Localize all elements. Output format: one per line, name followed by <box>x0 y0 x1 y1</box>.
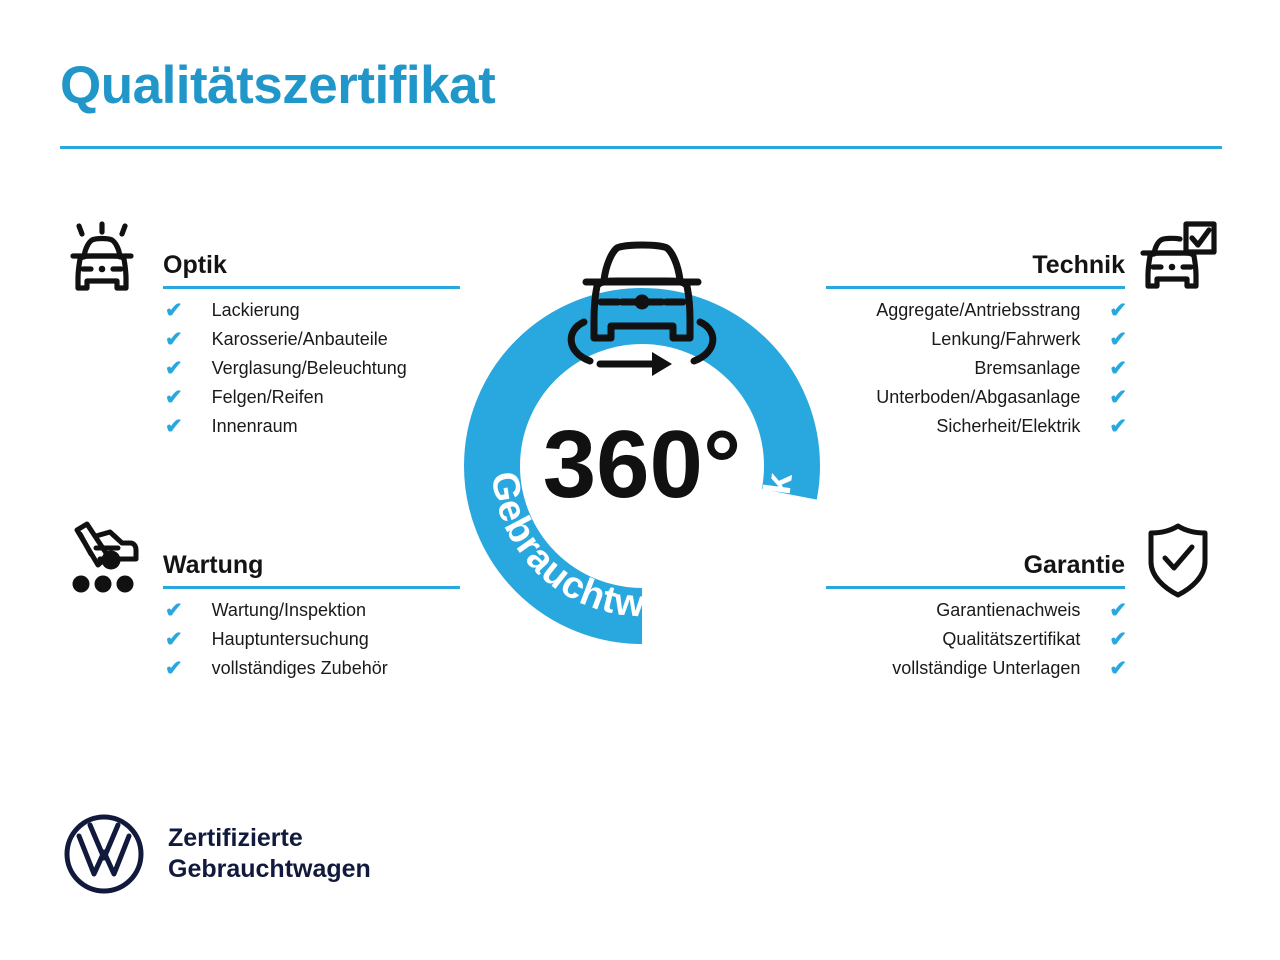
list-item-label: Wartung/Inspektion <box>212 600 366 621</box>
list-item: ✔Karosserie/Anbauteile <box>165 325 460 354</box>
header-divider <box>60 146 1222 149</box>
list-item: Bremsanlage✔ <box>820 354 1127 383</box>
badge-360-gebrauchtwagen-check: 360° Gebrauchtwagen-Check <box>451 216 833 656</box>
list-item: Qualitätszertifikat✔ <box>820 625 1127 654</box>
list-item: ✔Innenraum <box>165 412 460 441</box>
check-list-technik: Aggregate/Antriebsstrang✔ Lenkung/Fahrwe… <box>820 296 1127 441</box>
section-underline-optik <box>163 286 460 289</box>
section-header-technik: Technik <box>820 222 1220 296</box>
badge-center-label: 360° <box>543 411 742 518</box>
section-header-garantie: Garantie <box>820 522 1220 596</box>
check-icon: ✔ <box>165 600 183 621</box>
check-list-wartung: ✔Wartung/Inspektion ✔Hauptuntersuchung ✔… <box>165 596 460 683</box>
section-underline-garantie <box>826 586 1125 589</box>
list-item: ✔vollständiges Zubehör <box>165 654 460 683</box>
check-icon: ✔ <box>1109 329 1127 350</box>
section-title-optik: Optik <box>163 251 227 280</box>
list-item: Aggregate/Antriebsstrang✔ <box>820 296 1127 325</box>
list-item-label: Aggregate/Antriebsstrang <box>876 300 1080 321</box>
check-list-garantie: Garantienachweis✔ Qualitätszertifikat✔ v… <box>820 596 1127 683</box>
vw-logo-icon <box>62 812 146 896</box>
section-title-garantie: Garantie <box>1024 551 1125 580</box>
check-icon: ✔ <box>165 387 183 408</box>
list-item: ✔Felgen/Reifen <box>165 383 460 412</box>
section-wartung: Wartung ✔Wartung/Inspektion ✔Hauptunters… <box>60 522 460 683</box>
list-item-label: Felgen/Reifen <box>212 387 324 408</box>
car-polish-shine-icon <box>60 218 144 302</box>
check-icon: ✔ <box>165 358 183 379</box>
section-optik: Optik ✔Lackierung ✔Karosserie/Anbauteile… <box>60 222 460 441</box>
section-title-wartung: Wartung <box>163 551 263 580</box>
list-item: ✔Wartung/Inspektion <box>165 596 460 625</box>
list-item-label: Hauptuntersuchung <box>212 629 369 650</box>
section-underline-technik <box>826 286 1125 289</box>
service-pen-car-icon <box>60 518 144 602</box>
list-item-label: Qualitätszertifikat <box>942 629 1080 650</box>
list-item: Sicherheit/Elektrik✔ <box>820 412 1127 441</box>
page-title: Qualitätszertifikat <box>60 58 495 114</box>
list-item: Lenkung/Fahrwerk✔ <box>820 325 1127 354</box>
section-header-wartung: Wartung <box>60 522 460 596</box>
check-icon: ✔ <box>165 300 183 321</box>
list-item-label: Innenraum <box>212 416 298 437</box>
check-icon: ✔ <box>1109 629 1127 650</box>
footer-line-1: Zertifizierte <box>168 824 303 852</box>
check-list-optik: ✔Lackierung ✔Karosserie/Anbauteile ✔Verg… <box>165 296 460 441</box>
list-item: ✔Lackierung <box>165 296 460 325</box>
list-item-label: Lackierung <box>212 300 300 321</box>
footer-brand: Zertifizierte Gebrauchtwagen <box>62 812 371 896</box>
footer-line-2: Gebrauchtwagen <box>168 855 371 883</box>
check-icon: ✔ <box>1109 358 1127 379</box>
check-icon: ✔ <box>1109 600 1127 621</box>
list-item: Unterboden/Abgasanlage✔ <box>820 383 1127 412</box>
section-header-optik: Optik <box>60 222 460 296</box>
shield-check-icon <box>1136 518 1220 602</box>
check-icon: ✔ <box>1109 416 1127 437</box>
list-item-label: Karosserie/Anbauteile <box>212 329 388 350</box>
check-icon: ✔ <box>165 658 183 679</box>
list-item: vollständige Unterlagen✔ <box>820 654 1127 683</box>
check-icon: ✔ <box>1109 387 1127 408</box>
section-technik: Technik Aggregate/Antriebsstrang✔ Lenkun… <box>820 222 1220 441</box>
list-item-label: vollständiges Zubehör <box>212 658 388 679</box>
list-item-label: Verglasung/Beleuchtung <box>212 358 407 379</box>
check-icon: ✔ <box>165 329 183 350</box>
section-underline-wartung <box>163 586 460 589</box>
list-item: Garantienachweis✔ <box>820 596 1127 625</box>
check-icon: ✔ <box>165 416 183 437</box>
section-title-technik: Technik <box>1032 251 1125 280</box>
list-item-label: Lenkung/Fahrwerk <box>931 329 1080 350</box>
car-checkbox-icon <box>1136 218 1220 302</box>
list-item: ✔Hauptuntersuchung <box>165 625 460 654</box>
section-garantie: Garantie Garantienachweis✔ Qualitätszert… <box>820 522 1220 683</box>
footer-brand-text: Zertifizierte Gebrauchtwagen <box>168 823 371 886</box>
list-item-label: vollständige Unterlagen <box>892 658 1080 679</box>
list-item-label: Unterboden/Abgasanlage <box>876 387 1080 408</box>
check-icon: ✔ <box>1109 658 1127 679</box>
list-item-label: Sicherheit/Elektrik <box>936 416 1080 437</box>
check-icon: ✔ <box>165 629 183 650</box>
list-item: ✔Verglasung/Beleuchtung <box>165 354 460 383</box>
list-item-label: Bremsanlage <box>974 358 1080 379</box>
check-icon: ✔ <box>1109 300 1127 321</box>
list-item-label: Garantienachweis <box>936 600 1080 621</box>
